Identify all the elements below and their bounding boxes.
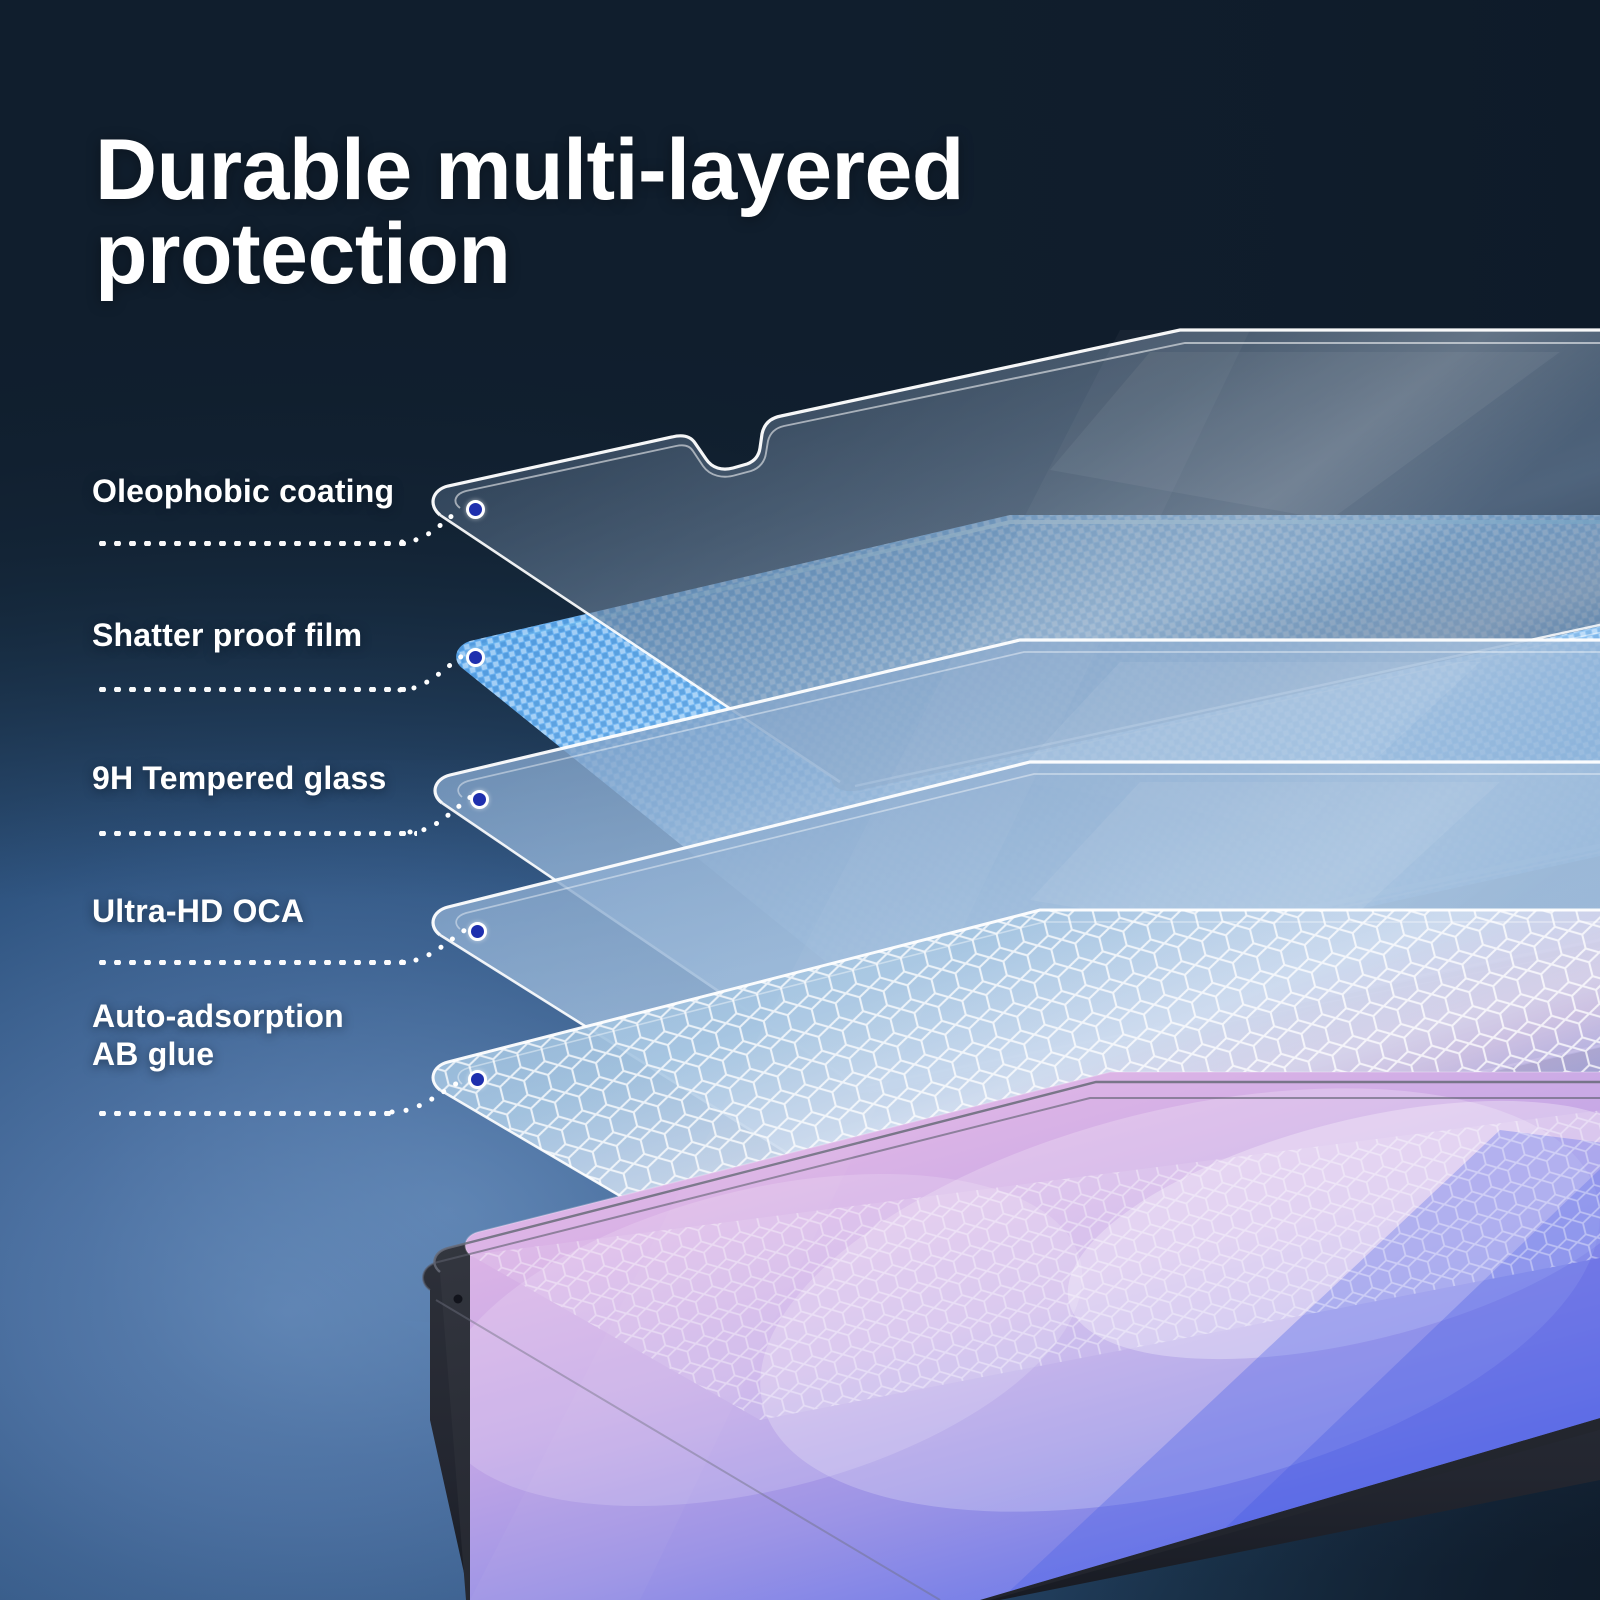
layer-label-9h-tempered-glass: 9H Tempered glass	[92, 760, 386, 798]
layer-label-auto-adsorption-ab-glue: Auto-adsorption AB glue	[92, 998, 344, 1074]
leader-line-auto-adsorption-ab-glue	[95, 1111, 397, 1116]
layer-label-ultra-hd-oca: Ultra-HD OCA	[92, 893, 304, 931]
infographic-canvas: Durable multi-layered protection Oleopho…	[0, 0, 1600, 1600]
layer-marker-ultra-hd-oca	[468, 922, 487, 941]
layer-marker-oleophobic-coating	[466, 500, 485, 519]
leader-line-ultra-hd-oca	[95, 960, 407, 965]
layer-label-shatter-proof-film: Shatter proof film	[92, 617, 362, 655]
leader-line-oleophobic-coating	[95, 541, 411, 546]
layer-marker-auto-adsorption-ab-glue	[468, 1070, 487, 1089]
page-title: Durable multi-layered protection	[95, 128, 1245, 297]
layer-marker-shatter-proof-film	[466, 648, 485, 667]
layer-label-oleophobic-coating: Oleophobic coating	[92, 473, 394, 511]
leader-line-9h-tempered-glass	[95, 831, 417, 836]
sensor-pinhole	[454, 1295, 463, 1304]
layer-marker-9h-tempered-glass	[470, 790, 489, 809]
leader-line-shatter-proof-film	[95, 687, 407, 692]
